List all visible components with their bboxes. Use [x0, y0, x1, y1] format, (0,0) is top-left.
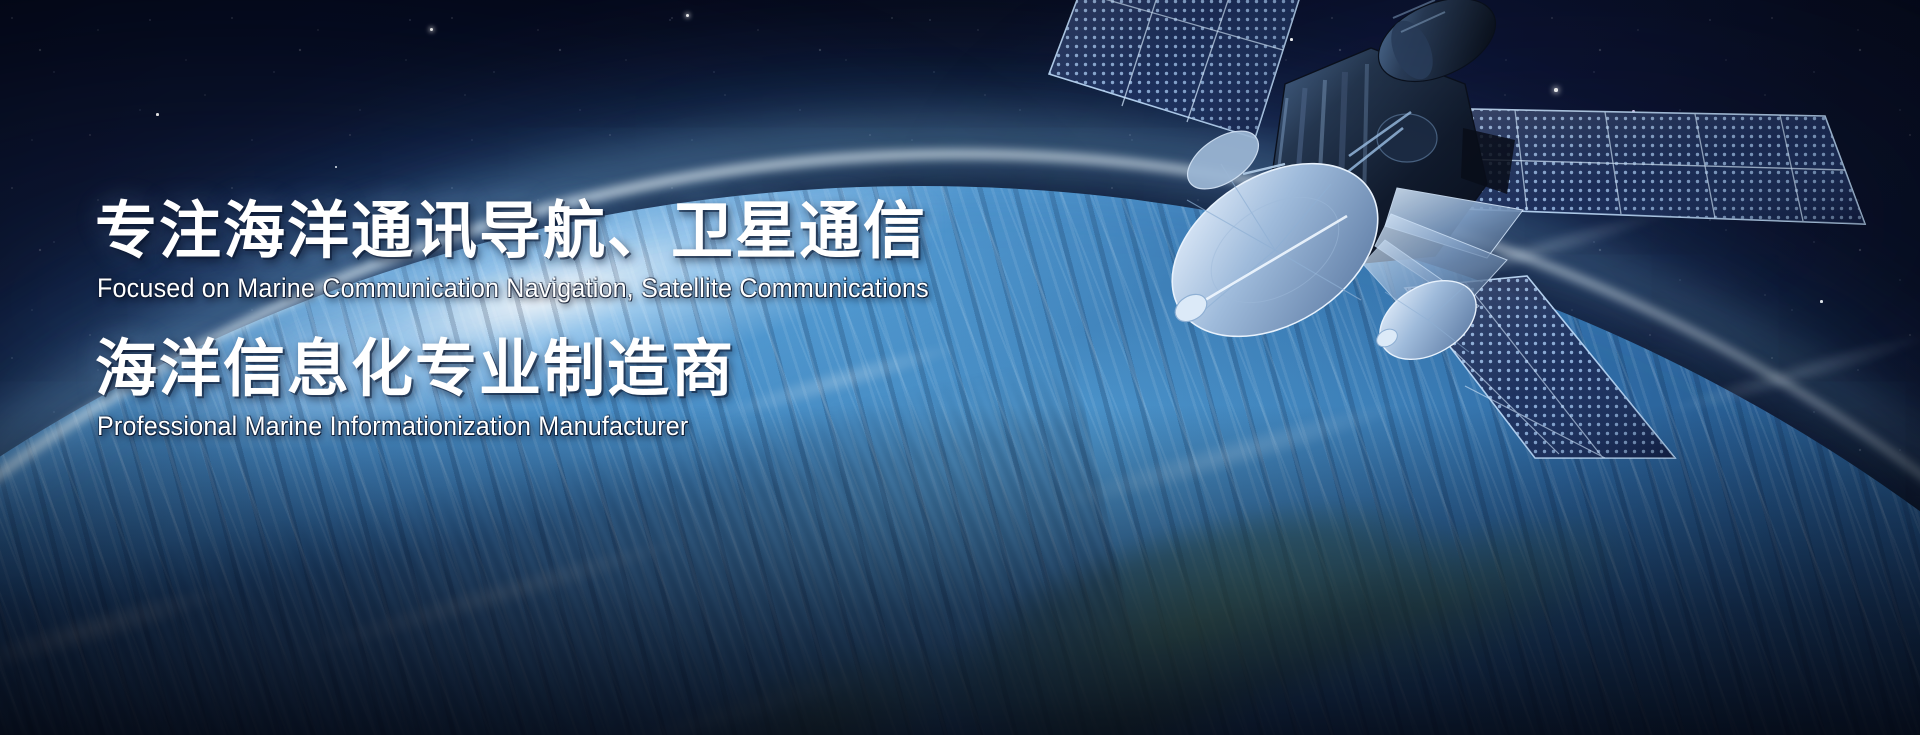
headline-chinese-secondary: 海洋信息化专业制造商	[95, 336, 735, 403]
headline-english-secondary: Professional Marine Informationization M…	[97, 410, 690, 442]
hero-banner: 专注海洋通讯导航、卫星通信 Focused on Marine Communic…	[0, 0, 1920, 735]
headline-block-primary: 专注海洋通讯导航、卫星通信 Focused on Marine Communic…	[95, 198, 992, 304]
headline-english-primary: Focused on Marine Communication Navigati…	[97, 272, 929, 304]
headline-block-secondary: 海洋信息化专业制造商 Professional Marine Informati…	[95, 336, 735, 442]
headline-chinese-primary: 专注海洋通讯导航、卫星通信	[95, 198, 992, 265]
